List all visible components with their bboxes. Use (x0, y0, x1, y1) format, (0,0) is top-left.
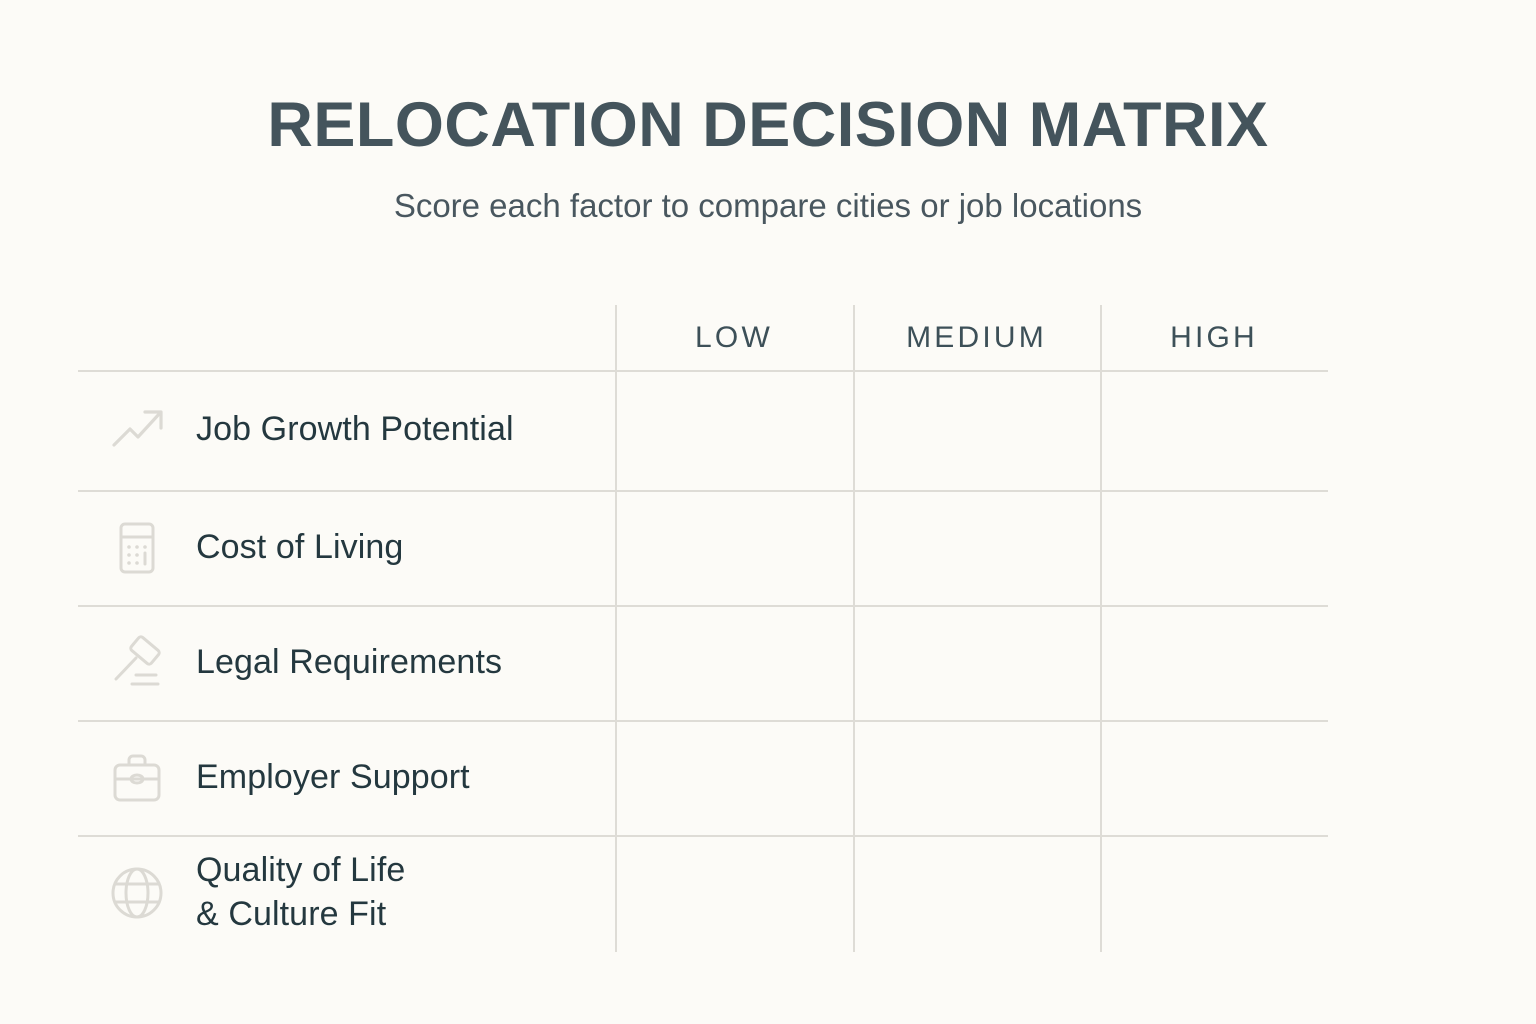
table-row: Legal Requirements (78, 605, 615, 720)
row-label: Employer Support (196, 756, 470, 800)
column-header-low: LOW (615, 314, 853, 362)
decision-matrix-table: LOW MEDIUM HIGH Job Growth Potential (78, 300, 1328, 952)
trending-up-icon (78, 372, 196, 487)
score-cell-cost-of-living-high[interactable] (1102, 490, 1328, 605)
score-cell-cost-of-living-medium[interactable] (855, 490, 1100, 605)
table-row: Quality of Life & Culture Fit (78, 835, 615, 950)
score-cell-legal-requirements-low[interactable] (617, 605, 853, 720)
score-cell-job-growth-high[interactable] (1102, 372, 1328, 487)
score-cell-quality-of-life-medium[interactable] (855, 835, 1100, 950)
table-row: Employer Support (78, 720, 615, 835)
calculator-icon (78, 490, 196, 605)
score-cell-quality-of-life-low[interactable] (617, 835, 853, 950)
briefcase-icon (78, 720, 196, 835)
score-cell-employer-support-high[interactable] (1102, 720, 1328, 835)
relocation-decision-matrix-page: RELOCATION DECISION MATRIX Score each fa… (0, 0, 1536, 1024)
column-header-high: HIGH (1100, 314, 1328, 362)
row-label: Legal Requirements (196, 641, 502, 685)
score-cell-employer-support-low[interactable] (617, 720, 853, 835)
page-title: RELOCATION DECISION MATRIX (0, 92, 1536, 158)
column-header-medium: MEDIUM (853, 314, 1100, 362)
score-cell-cost-of-living-low[interactable] (617, 490, 853, 605)
score-cell-legal-requirements-medium[interactable] (855, 605, 1100, 720)
page-subtitle: Score each factor to compare cities or j… (0, 186, 1536, 226)
table-row: Job Growth Potential (78, 372, 615, 487)
score-cell-job-growth-medium[interactable] (855, 372, 1100, 487)
gavel-icon (78, 605, 196, 720)
score-cell-quality-of-life-high[interactable] (1102, 835, 1328, 950)
table-row: Cost of Living (78, 490, 615, 605)
score-cell-employer-support-medium[interactable] (855, 720, 1100, 835)
row-label: Cost of Living (196, 526, 403, 570)
globe-icon (78, 835, 196, 950)
score-cell-legal-requirements-high[interactable] (1102, 605, 1328, 720)
row-label: Job Growth Potential (196, 408, 514, 452)
score-cell-job-growth-low[interactable] (617, 372, 853, 487)
row-label: Quality of Life & Culture Fit (196, 849, 405, 936)
